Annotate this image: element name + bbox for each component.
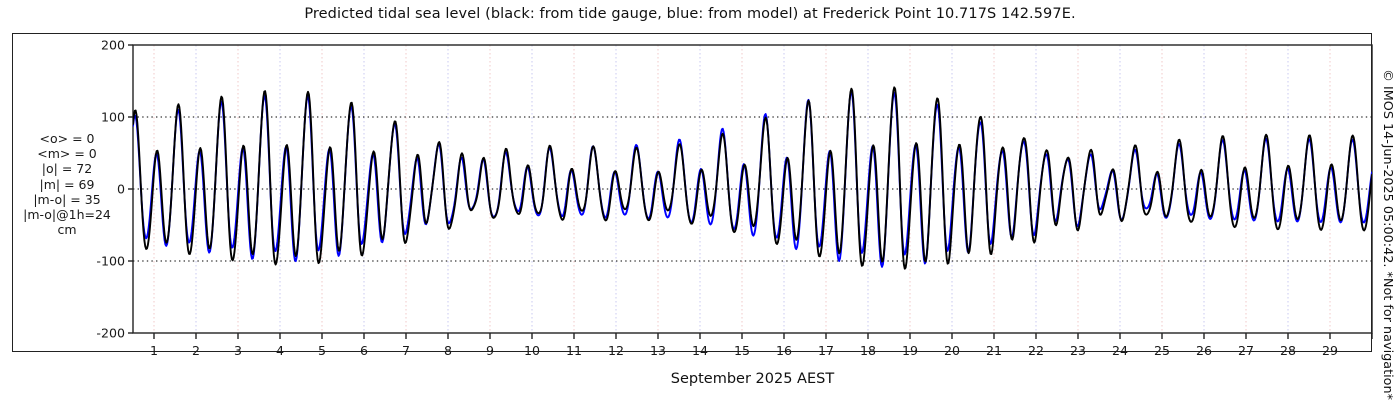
- y-tick-label: 100: [101, 110, 125, 125]
- series-tide-gauge: [133, 87, 1372, 268]
- tidal-chart-figure: Predicted tidal sea level (black: from t…: [0, 0, 1400, 400]
- x-tick-label: 12: [608, 343, 624, 358]
- x-tick-label: 24: [1112, 343, 1128, 358]
- x-tick-label: 2: [192, 343, 200, 358]
- x-tick-label: 13: [650, 343, 666, 358]
- x-tick-label: 7: [402, 343, 410, 358]
- x-tick-label: 1: [150, 343, 158, 358]
- x-tick-label: 26: [1196, 343, 1212, 358]
- x-tick-label: 16: [776, 343, 792, 358]
- y-tick-label: -100: [96, 254, 125, 269]
- x-tick-label: 23: [1070, 343, 1086, 358]
- stat-mean-model: <m> = 0: [6, 146, 128, 161]
- x-tick-label: 25: [1154, 343, 1170, 358]
- x-axis-label: September 2025 AEST: [133, 371, 1372, 387]
- stat-mean-obs: <o> = 0: [6, 131, 128, 146]
- data-traces: [133, 87, 1372, 268]
- x-tick-label: 29: [1322, 343, 1338, 358]
- stat-rms-diff-1h: |m-o|@1h=24: [6, 207, 128, 222]
- x-tick-label: 21: [986, 343, 1002, 358]
- x-tick-label: 3: [234, 343, 242, 358]
- statistics-block: <o> = 0 <m> = 0 |o| = 72 |m| = 69 |m-o| …: [6, 131, 128, 237]
- x-tick-label: 9: [486, 343, 494, 358]
- x-tick-label: 19: [902, 343, 918, 358]
- x-tick-label: 22: [1028, 343, 1044, 358]
- plot-area: 2001000-100-2001234567891011121314151617…: [0, 0, 1400, 400]
- y-tick-label: 200: [101, 38, 125, 53]
- copyright-text: © IMOS 14-Jun-2025 05:00:42. *Not for na…: [1374, 69, 1400, 400]
- x-tick-label: 11: [566, 343, 582, 358]
- stat-rms-obs: |o| = 72: [6, 161, 128, 176]
- x-tick-label: 20: [944, 343, 960, 358]
- stat-units: cm: [6, 222, 128, 237]
- x-tick-label: 5: [318, 343, 326, 358]
- x-tick-label: 6: [360, 343, 368, 358]
- x-tick-label: 17: [818, 343, 834, 358]
- x-tick-label: 18: [860, 343, 876, 358]
- x-tick-label: 14: [692, 343, 708, 358]
- stat-rms-model: |m| = 69: [6, 177, 128, 192]
- x-tick-label: 28: [1280, 343, 1296, 358]
- stat-rms-diff: |m-o| = 35: [6, 192, 128, 207]
- x-tick-label: 8: [444, 343, 452, 358]
- x-tick-label: 4: [276, 343, 284, 358]
- x-tick-label: 27: [1238, 343, 1254, 358]
- x-tick-label: 10: [524, 343, 540, 358]
- y-tick-label: -200: [96, 326, 125, 341]
- series-model: [133, 92, 1372, 267]
- copyright-notice: © IMOS 14-Jun-2025 05:00:42. *Not for na…: [1374, 0, 1400, 400]
- x-tick-label: 15: [734, 343, 750, 358]
